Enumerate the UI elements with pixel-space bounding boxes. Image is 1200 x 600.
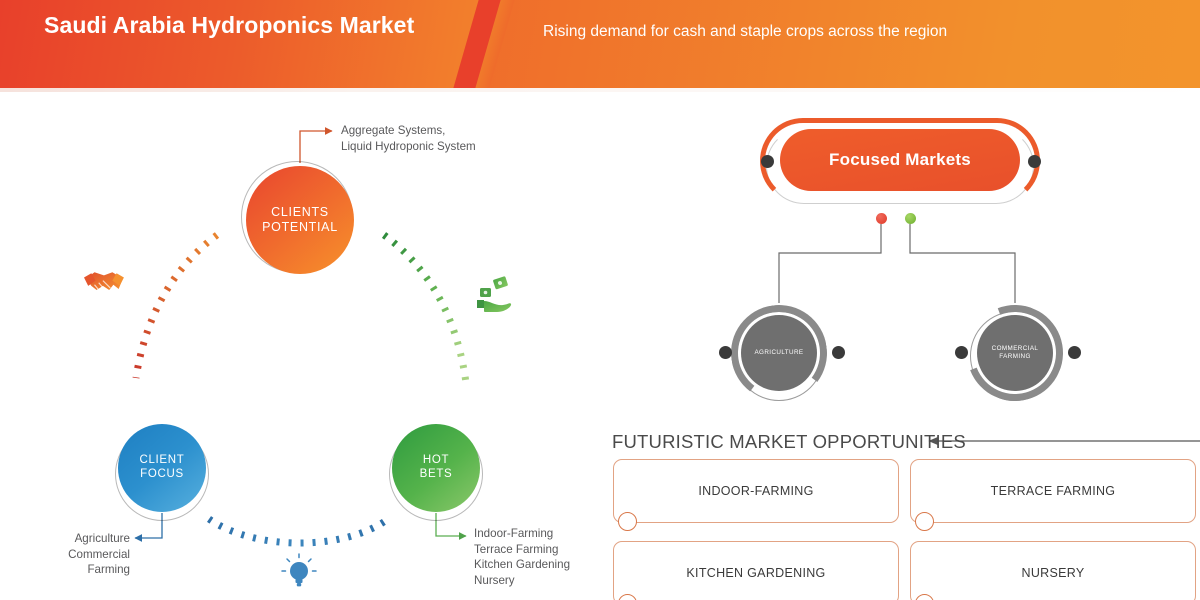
tree-connector-left bbox=[779, 224, 881, 303]
infographic-canvas: Saudi Arabia Hydroponics Market Rising d… bbox=[0, 0, 1200, 600]
callout-clients-potential-line-0: Aggregate Systems, bbox=[341, 123, 476, 139]
page-title: Saudi Arabia Hydroponics Market bbox=[44, 12, 414, 39]
node-client-focus[interactable]: CLIENT FOCUS bbox=[118, 424, 206, 512]
page-header: Saudi Arabia Hydroponics Market Rising d… bbox=[0, 0, 1200, 88]
market-node-commercial-farming[interactable]: COMMERCIAL FARMING bbox=[967, 305, 1063, 401]
callout-hot-bets-line-0: Indoor-Farming bbox=[474, 526, 570, 542]
callout-client-focus-line-0: Agriculture bbox=[44, 531, 130, 547]
callout-hot-bets-line-1: Terrace Farming bbox=[474, 542, 570, 558]
dotted-arc-green bbox=[384, 235, 466, 383]
dotted-arc-blue bbox=[209, 519, 388, 543]
callout-client-focus: Agriculture Commercial Farming bbox=[44, 531, 130, 578]
red-branch-dot bbox=[876, 213, 887, 224]
commercial-farming-label-line2: FARMING bbox=[992, 353, 1039, 362]
money-hand-icon bbox=[477, 276, 511, 312]
leader-line-clients-potential bbox=[300, 131, 332, 163]
opportunity-card-indoor-farming[interactable]: INDOOR-FARMING bbox=[613, 459, 899, 523]
callout-client-focus-line-1: Commercial bbox=[44, 547, 130, 563]
tree-connector-right bbox=[910, 224, 1015, 303]
agriculture-dot-left bbox=[719, 346, 732, 359]
focused-markets-dot-left bbox=[761, 155, 774, 168]
opportunity-card-terrace-farming[interactable]: TERRACE FARMING bbox=[910, 459, 1196, 523]
futuristic-section-title: FUTURISTIC MARKET OPPORTUNITIES bbox=[612, 431, 966, 453]
focused-markets-dot-right bbox=[1028, 155, 1041, 168]
callout-hot-bets: Indoor-Farming Terrace Farming Kitchen G… bbox=[474, 526, 570, 589]
callout-hot-bets-line-3: Nursery bbox=[474, 573, 570, 589]
agriculture-label: AGRICULTURE bbox=[741, 315, 817, 391]
clients-potential-label-line2: POTENTIAL bbox=[262, 220, 338, 235]
page-subtitle: Rising demand for cash and staple crops … bbox=[543, 23, 947, 41]
opportunity-card-kitchen-gardening[interactable]: KITCHEN GARDENING bbox=[613, 541, 899, 600]
callout-hot-bets-line-2: Kitchen Gardening bbox=[474, 557, 570, 573]
commercial-farming-label: COMMERCIAL FARMING bbox=[977, 315, 1053, 391]
commercial-farming-dot-right bbox=[1068, 346, 1081, 359]
client-focus-label-line1: CLIENT bbox=[139, 454, 184, 468]
hot-bets-label-line2: BETS bbox=[420, 468, 453, 482]
opportunity-knob-terrace-farming bbox=[915, 512, 934, 531]
focused-markets-group: Focused Markets bbox=[760, 118, 1040, 204]
opportunity-card-nursery[interactable]: NURSERY bbox=[910, 541, 1196, 600]
hot-bets-label-line1: HOT bbox=[420, 454, 453, 468]
handshake-icon bbox=[84, 272, 124, 291]
header-divider bbox=[0, 88, 1200, 92]
node-clients-potential[interactable]: CLIENTS POTENTIAL bbox=[246, 166, 354, 274]
green-branch-dot bbox=[905, 213, 916, 224]
commercial-farming-dot-left bbox=[955, 346, 968, 359]
lightbulb-icon bbox=[282, 554, 316, 586]
callout-client-focus-line-2: Farming bbox=[44, 562, 130, 578]
agriculture-dot-right bbox=[832, 346, 845, 359]
opportunity-knob-indoor-farming bbox=[618, 512, 637, 531]
commercial-farming-label-line1: COMMERCIAL bbox=[992, 345, 1039, 354]
callout-clients-potential-line-1: Liquid Hydroponic System bbox=[341, 139, 476, 155]
node-hot-bets[interactable]: HOT BETS bbox=[392, 424, 480, 512]
callout-clients-potential: Aggregate Systems, Liquid Hydroponic Sys… bbox=[341, 123, 476, 154]
dotted-arc-orange bbox=[136, 235, 217, 378]
market-node-agriculture[interactable]: AGRICULTURE bbox=[731, 305, 827, 401]
header-right-band bbox=[455, 0, 1200, 88]
focused-markets-button[interactable]: Focused Markets bbox=[780, 129, 1020, 191]
clients-potential-label-line1: CLIENTS bbox=[262, 205, 338, 220]
client-focus-label-line2: FOCUS bbox=[139, 468, 184, 482]
